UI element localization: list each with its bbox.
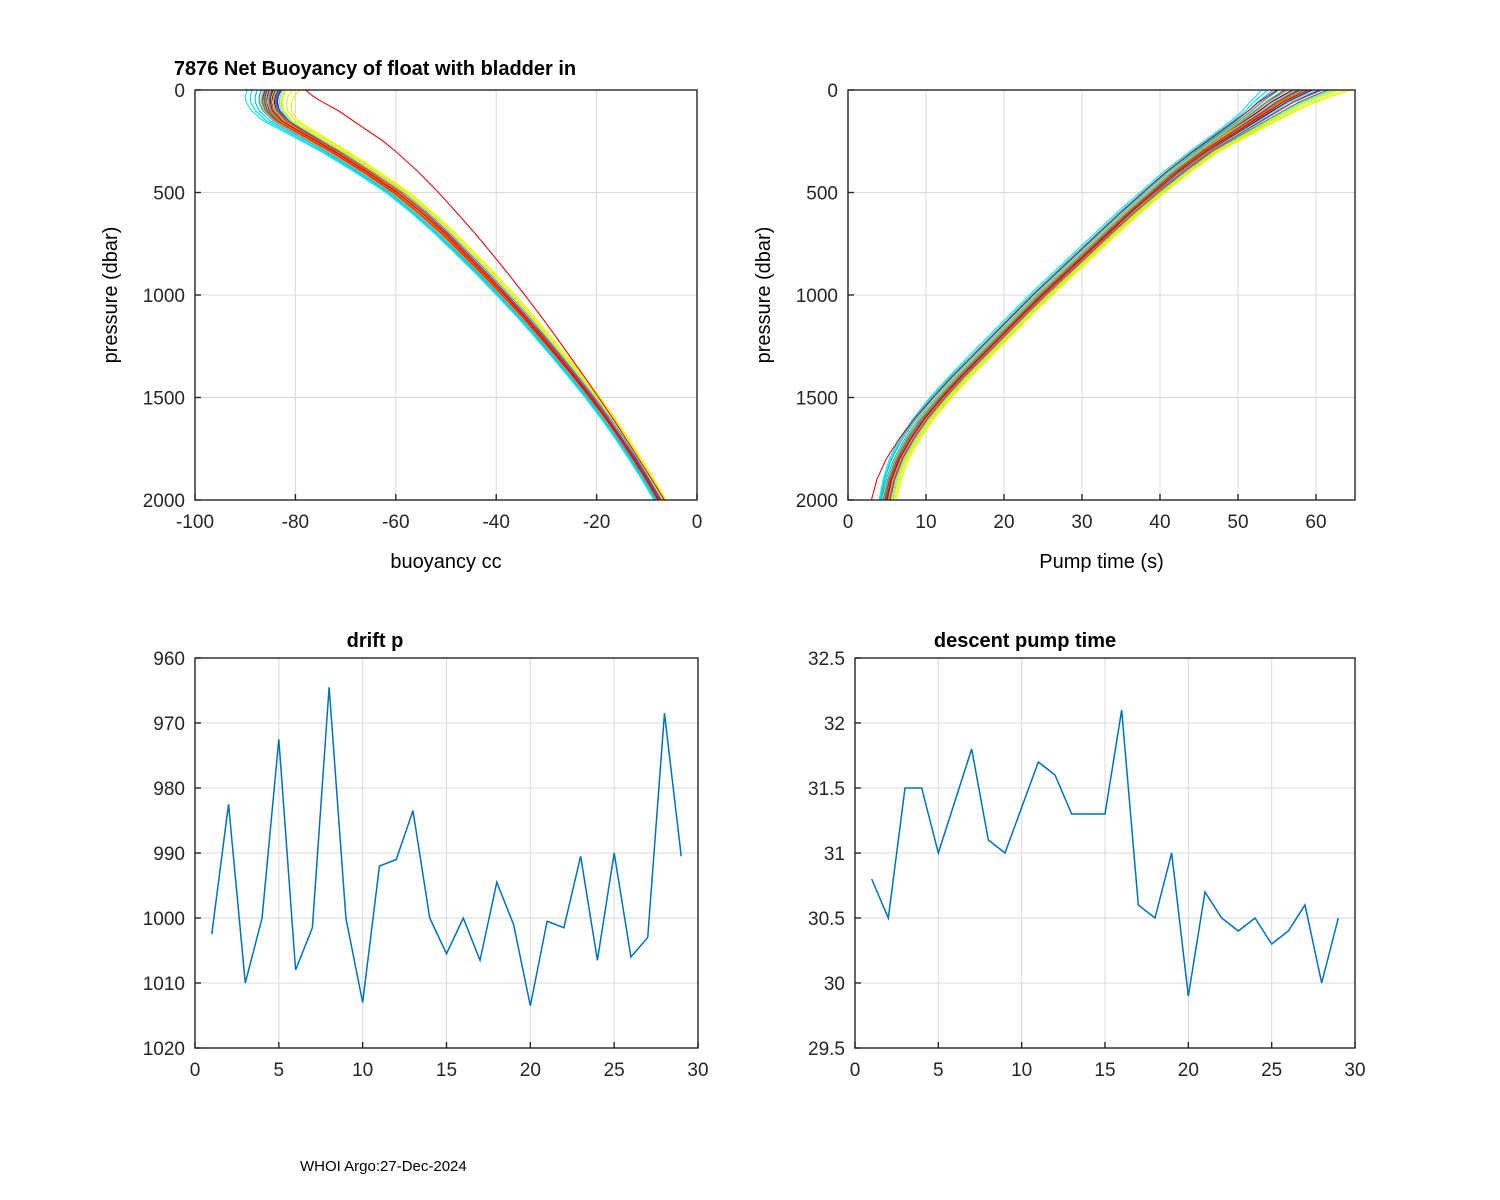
x-tick-label: 5 <box>933 1060 944 1081</box>
x-tick-label: 40 <box>1149 512 1170 533</box>
x-tick-label: -40 <box>482 512 509 533</box>
y-tick-label: 1000 <box>143 286 185 307</box>
x-tick-label: 20 <box>1178 1060 1199 1081</box>
x-tick-label: -100 <box>176 512 214 533</box>
y-tick-label: 1000 <box>796 286 838 307</box>
x-tick-label: 0 <box>850 1060 861 1081</box>
y-tick-label: 32 <box>824 714 845 735</box>
y-axis-label: pressure (dbar) <box>753 227 775 364</box>
y-tick-label: 500 <box>806 184 838 205</box>
y-tick-label: 2000 <box>143 491 185 512</box>
x-tick-label: 25 <box>1261 1060 1282 1081</box>
x-tick-label: 20 <box>520 1060 541 1081</box>
y-tick-label: 29.5 <box>808 1039 845 1060</box>
y-tick-label: 1500 <box>143 389 185 410</box>
x-tick-label: 25 <box>604 1060 625 1081</box>
x-tick-label: 50 <box>1227 512 1248 533</box>
x-tick-label: 20 <box>993 512 1014 533</box>
net-buoyancy-plot: -100-80-60-40-2000500100015002000buoyanc… <box>0 50 750 570</box>
y-tick-label: 0 <box>174 81 185 102</box>
x-tick-label: 5 <box>274 1060 285 1081</box>
y-tick-label: 1010 <box>143 974 185 995</box>
x-tick-label: 10 <box>352 1060 373 1081</box>
drift-p-title: drift p <box>0 630 750 653</box>
y-tick-label: 0 <box>827 81 838 102</box>
x-tick-label: 10 <box>1011 1060 1032 1081</box>
x-tick-label: -80 <box>282 512 309 533</box>
y-tick-label: 990 <box>153 844 185 865</box>
y-tick-label: 500 <box>153 184 185 205</box>
x-tick-label: 0 <box>190 1060 201 1081</box>
x-tick-label: -20 <box>583 512 610 533</box>
y-tick-label: 1500 <box>796 389 838 410</box>
pump-time-plot: 01020304050600500100015002000Pump time (… <box>650 50 1400 570</box>
y-tick-label: 980 <box>153 779 185 800</box>
x-tick-label: 30 <box>1344 1060 1365 1081</box>
panel-descent-pump-time: descent pump time 05101520253029.53030.5… <box>650 620 1400 1120</box>
y-tick-label: 30.5 <box>808 909 845 930</box>
panel-pump-time: 01020304050600500100015002000Pump time (… <box>650 50 1400 570</box>
x-tick-label: -60 <box>382 512 409 533</box>
x-tick-label: 30 <box>1071 512 1092 533</box>
net-buoyancy-title: 7876 Net Buoyancy of float with bladder … <box>0 58 750 81</box>
y-tick-label: 970 <box>153 714 185 735</box>
descent-pump-time-plot: 05101520253029.53030.53131.53232.5 <box>650 620 1400 1120</box>
x-axis-label: Pump time (s) <box>1039 551 1163 573</box>
panel-drift-p: drift p 05101520253096097098099010001010… <box>0 620 750 1120</box>
descent-pump-time-title: descent pump time <box>650 630 1400 653</box>
y-tick-label: 2000 <box>796 491 838 512</box>
y-tick-label: 1020 <box>143 1039 185 1060</box>
x-tick-label: 10 <box>915 512 936 533</box>
figure-canvas: 7876 Net Buoyancy of float with bladder … <box>0 0 1500 1200</box>
drift-p-plot: 051015202530960970980990100010101020 <box>0 620 750 1120</box>
panel-net-buoyancy: 7876 Net Buoyancy of float with bladder … <box>0 50 750 570</box>
y-tick-label: 31 <box>824 844 845 865</box>
footer-label: WHOI Argo:27-Dec-2024 <box>300 1158 467 1175</box>
y-axis-label: pressure (dbar) <box>100 227 122 364</box>
x-tick-label: 15 <box>1094 1060 1115 1081</box>
y-tick-label: 31.5 <box>808 779 845 800</box>
x-tick-label: 60 <box>1305 512 1326 533</box>
x-tick-label: 15 <box>436 1060 457 1081</box>
x-axis-label: buoyancy cc <box>390 551 501 573</box>
x-tick-label: 0 <box>843 512 854 533</box>
y-tick-label: 1000 <box>143 909 185 930</box>
y-tick-label: 30 <box>824 974 845 995</box>
